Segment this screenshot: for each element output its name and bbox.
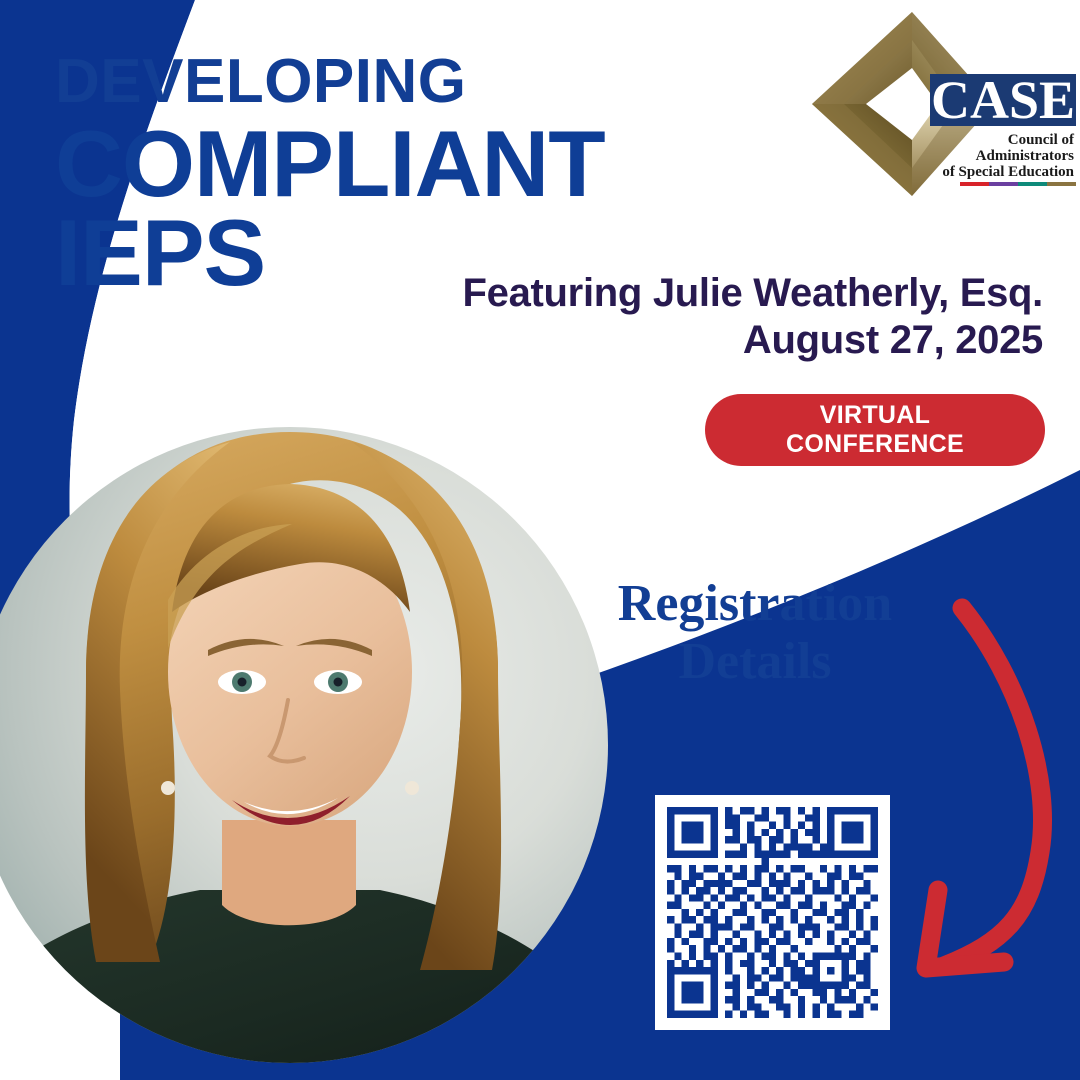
registration-qr-code[interactable] (655, 795, 890, 1030)
presenter-block: Featuring Julie Weatherly, Esq. August 2… (343, 272, 1043, 362)
registration-line-1: Registration (570, 575, 940, 633)
headline-line-2: COMPLIANT (55, 119, 755, 208)
qr-code-matrix (667, 807, 878, 1018)
case-tagline-line-3: of Special Education (942, 164, 1074, 180)
badge-line-1: VIRTUAL (820, 401, 930, 430)
case-wordmark-text: CASE (931, 70, 1075, 130)
virtual-conference-badge: VIRTUAL CONFERENCE (705, 394, 1045, 466)
case-logo: CASE Council of Administrators of Specia… (808, 8, 1076, 208)
case-tagline-line-2: Administrators (976, 148, 1074, 164)
poster-canvas: DEVELOPING COMPLIANT IEPS Featuring Juli… (0, 0, 1080, 1080)
presenter-name: Featuring Julie Weatherly, Esq. (343, 272, 1043, 315)
event-date: August 27, 2025 (343, 319, 1043, 362)
headline-line-1: DEVELOPING (55, 52, 755, 113)
case-tagline-line-1: Council of (1008, 132, 1075, 148)
headline-block: DEVELOPING COMPLIANT IEPS (55, 52, 755, 297)
curved-arrow-pointing-to-qr (900, 590, 1080, 990)
badge-line-2: CONFERENCE (786, 430, 964, 459)
registration-details-label: Registration Details (570, 575, 940, 691)
case-color-rule (960, 182, 1076, 186)
registration-line-2: Details (570, 633, 940, 691)
